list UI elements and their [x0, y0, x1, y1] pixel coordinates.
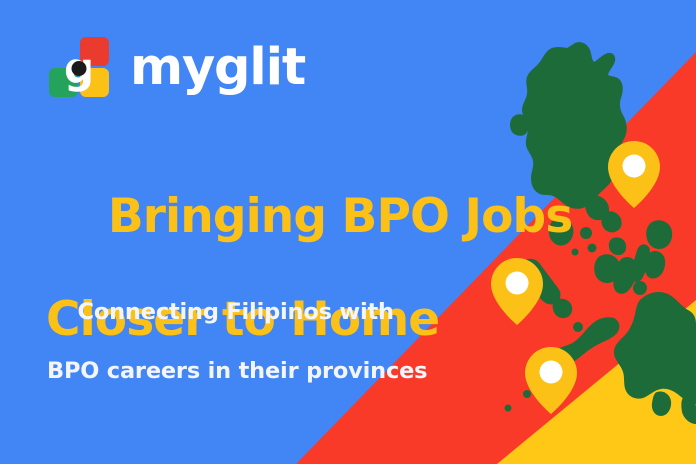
- logo-letter-g-dot: [72, 61, 87, 76]
- map-pin-luzon[interactable]: [608, 141, 660, 208]
- subtitle: Connecting Filipinos with BPO careers in…: [47, 268, 427, 446]
- subtitle-line-1: Connecting Filipinos with: [78, 299, 394, 325]
- brand-wordmark[interactable]: myglit: [130, 42, 305, 93]
- map-pin-luzon-center: [623, 155, 646, 178]
- subtitle-line-2: BPO careers in their provinces: [47, 357, 427, 387]
- myglit-g-logo-icon[interactable]: g: [48, 36, 110, 98]
- headline-line-1: Bringing BPO Jobs: [108, 189, 572, 244]
- banner-canvas: g myglit Bringing BPO Jobs Closer to Hom…: [0, 0, 696, 464]
- brand-lockup[interactable]: g myglit: [48, 36, 305, 98]
